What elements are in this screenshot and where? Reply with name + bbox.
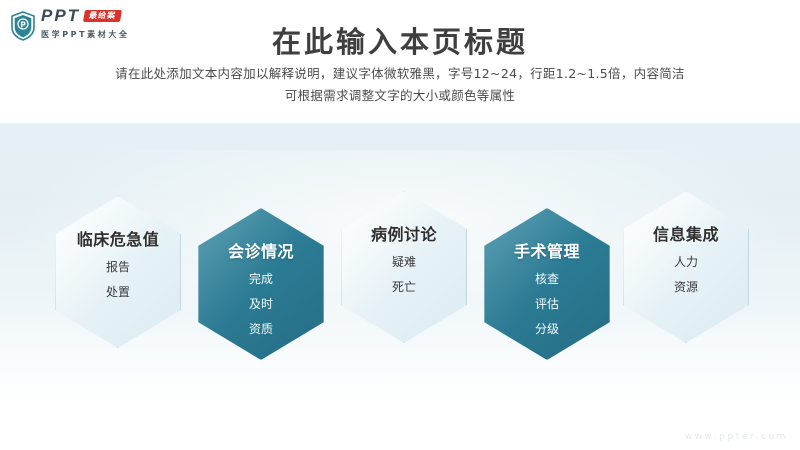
hexagon-subitem: 人力 bbox=[674, 256, 698, 268]
hexagon-subitem: 报告 bbox=[106, 261, 130, 273]
hexagon-title: 手术管理 bbox=[514, 244, 580, 260]
hexagon-title: 临床危急值 bbox=[77, 232, 160, 248]
site-watermark: www.ppter.com bbox=[685, 432, 788, 442]
hexagon-subitem: 核查 bbox=[535, 273, 559, 285]
hexagon-subitem: 完成 bbox=[249, 273, 273, 285]
hexagon-subitem: 及时 bbox=[249, 298, 273, 310]
hexagon-diagram: 临床危急值 报告 处置 会诊情况 完成 及时 资质 病例讨论 疑难 死亡 bbox=[0, 0, 800, 450]
slide-canvas: P PPT 最给案 医学PPT素材大全 在此输入本页标题 请在此处添加文本内容加… bbox=[0, 0, 800, 450]
hexagon-title: 病例讨论 bbox=[371, 227, 437, 243]
hexagon-subitem: 处置 bbox=[106, 286, 130, 298]
hexagon-title: 信息集成 bbox=[653, 227, 719, 243]
hexagon-subitem: 疑难 bbox=[392, 256, 416, 268]
hexagon-subitem: 分级 bbox=[535, 323, 559, 335]
hexagon-item-3[interactable]: 病例讨论 疑难 死亡 bbox=[341, 191, 467, 343]
hexagon-item-4[interactable]: 手术管理 核查 评估 分级 bbox=[484, 208, 610, 360]
hexagon-title: 会诊情况 bbox=[228, 244, 294, 260]
hexagon-subitem: 资源 bbox=[674, 281, 698, 293]
hexagon-subitem: 死亡 bbox=[392, 281, 416, 293]
hexagon-item-5[interactable]: 信息集成 人力 资源 bbox=[623, 191, 749, 343]
hexagon-subitem: 评估 bbox=[535, 298, 559, 310]
hexagon-subitem: 资质 bbox=[249, 323, 273, 335]
hexagon-item-1[interactable]: 临床危急值 报告 处置 bbox=[55, 196, 181, 348]
hexagon-item-2[interactable]: 会诊情况 完成 及时 资质 bbox=[198, 208, 324, 360]
